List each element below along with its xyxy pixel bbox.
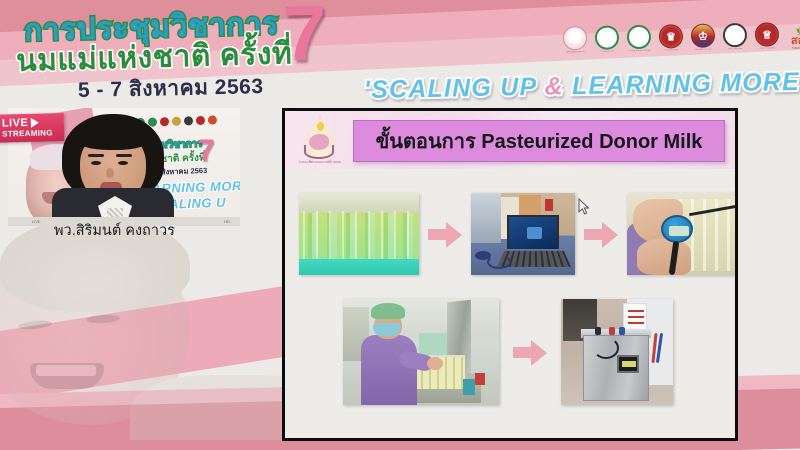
slogan-ampersand: & <box>544 72 564 100</box>
logo-caption: กระทรวงสาธารณสุข <box>626 50 652 53</box>
presenter-name-caption: พว.สิริมนต์ คงถาวร <box>54 219 175 242</box>
logo-caption: THAILAND HUMAN MILK BANK <box>293 161 347 164</box>
logo-caption: มหาวิทยาลัย <box>722 48 748 51</box>
video-logo-dot <box>208 115 217 124</box>
teal-object-detail <box>463 379 475 395</box>
photo-pasteurizer-machine <box>561 299 673 405</box>
child-photo-watermark <box>0 225 300 440</box>
presenter-bangs <box>74 124 152 150</box>
logo-item: ♔สมาคมวิชาชีพ <box>690 23 717 51</box>
logo-caption: ราชวิทยาลัย <box>658 49 684 52</box>
logo-caption: มูลนิธิศูนย์นมแม่ <box>562 51 588 54</box>
gold-emblem-logo-icon: ♔ <box>691 24 715 48</box>
thaihealth-logo-icon: 🌿 สสส THAI HEALTH <box>786 28 800 50</box>
watermark-body <box>130 375 300 440</box>
process-row-bottom <box>343 299 673 405</box>
power-cord <box>593 337 619 359</box>
conference-slogan: 'SCALING UP & LEARNING MORE' <box>364 68 800 106</box>
photo-milk-bottle-racks <box>299 193 419 275</box>
sign-line <box>628 322 644 324</box>
slide-title-box: ขั้นตอนการ Pasteurized Donor Milk <box>353 120 725 162</box>
watermark-teeth <box>36 365 96 376</box>
slogan-part-1: 'SCALING UP <box>364 73 545 104</box>
conference-date: 5 - 7 สิงหาคม 2563 <box>78 70 264 107</box>
video-presenter-figure <box>54 114 172 226</box>
logo-caption: สมาคมวิชาชีพ <box>690 48 716 51</box>
arrow-right-icon-3 <box>513 339 547 365</box>
green-circle-logo-1-icon: ✚ <box>595 25 619 49</box>
video-logo-dot <box>172 117 181 126</box>
cradling-hands-icon <box>304 145 334 159</box>
sponsor-logo-strip: ☯มูลนิธิศูนย์นมแม่ ✚กรมอนามัย ✝กระทรวงสา… <box>562 22 800 55</box>
green-circle-logo-2-icon: ✝ <box>627 25 651 49</box>
bottle-rack-detail <box>303 211 415 261</box>
shelf-detail <box>471 193 501 243</box>
streaming-label: STREAMING <box>2 128 60 139</box>
live-streaming-badge: LIVE STREAMING <box>0 113 64 143</box>
video-status-right: HD <box>224 219 230 224</box>
presenter-brow-right <box>116 154 132 157</box>
red-crest-logo-icon: ♕ <box>755 22 779 46</box>
logo-caption: กรมอนามัย <box>594 50 620 53</box>
live-label: LIVE <box>2 117 29 130</box>
logo-item: ♕กรมการแพทย์ <box>754 22 781 50</box>
nurse-hand <box>427 357 443 370</box>
mouse-cursor <box>578 198 590 216</box>
royal-patronage-logo-icon: ☯ <box>563 26 587 50</box>
logo-caption: กรมการแพทย์ <box>754 47 780 50</box>
arrow-right-icon-2 <box>584 221 618 247</box>
presentation-slide: THAILAND HUMAN MILK BANK ขั้นตอนการ Past… <box>282 108 738 441</box>
drop-droplet-icon <box>317 122 324 131</box>
nurse-body <box>361 335 417 405</box>
digital-thermometer-icon <box>661 215 693 243</box>
face-mask-icon <box>373 323 401 336</box>
red-emblem-logo-icon: ♛ <box>659 24 683 48</box>
presenter-brow-left <box>88 154 104 157</box>
video-logo-dot <box>196 116 205 125</box>
logo-item: ♚มหาวิทยาลัย <box>722 23 749 51</box>
red-item-detail <box>545 199 553 211</box>
red-object-detail <box>475 373 485 385</box>
sign-line <box>628 310 644 312</box>
presenter-nose <box>106 168 114 178</box>
slogan-part-2: LEARNING MORE' <box>564 68 800 101</box>
slide-title: ขั้นตอนการ Pasteurized Donor Milk <box>376 125 703 157</box>
sign-line <box>628 316 644 318</box>
video-logo-dot <box>184 116 193 125</box>
photo-nurse-loading-bottles <box>343 299 499 405</box>
arrow-right-icon-1 <box>428 221 462 247</box>
video-banner-seven: 7 <box>198 136 215 166</box>
process-row-top <box>299 193 738 275</box>
mouse-cable <box>487 255 511 269</box>
logo-subcaption: THAI HEALTH <box>786 47 800 50</box>
photo-hand-with-thermometer <box>627 193 738 275</box>
surgical-cap-icon <box>371 303 405 319</box>
photo-laptop-workstation <box>471 193 575 275</box>
laptop-screen <box>507 215 559 249</box>
edition-number: 7 <box>282 0 327 72</box>
logo-item: ✚กรมอนามัย <box>594 25 621 53</box>
screen: การประชุมวิชาการ นมแม่แห่งชาติ ครั้งที่ … <box>0 0 800 450</box>
machine-control-panel <box>617 355 639 373</box>
human-milk-bank-drop-logo: THAILAND HUMAN MILK BANK <box>293 114 347 168</box>
machine-knob-black <box>595 327 601 335</box>
video-status-left: LIVE <box>32 219 41 224</box>
presenter-eye-right <box>118 161 128 165</box>
machine-knob-red <box>609 327 615 335</box>
logo-item: ♛ราชวิทยาลัย <box>658 24 685 52</box>
machine-knob-blue <box>619 327 625 335</box>
logo-item: ☯มูลนิธิศูนย์นมแม่ <box>562 26 589 54</box>
black-circle-logo-icon: ♚ <box>723 23 747 47</box>
hand-lower <box>637 239 691 275</box>
presenter-eye-left <box>91 161 101 165</box>
play-triangle-icon <box>31 118 39 128</box>
logo-item: ✝กระทรวงสาธารณสุข <box>626 25 653 53</box>
